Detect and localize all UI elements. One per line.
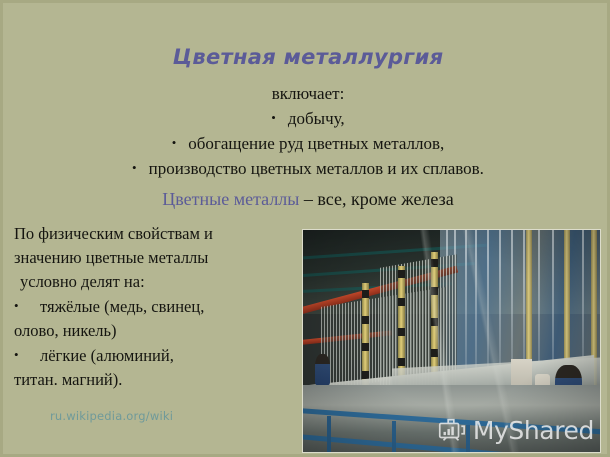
bullet-glyph-icon: •: [14, 343, 40, 367]
definition-term: Цветные металлы: [162, 189, 299, 209]
watermark-text: MyShared: [473, 418, 594, 443]
bullet-glyph-icon: •: [14, 294, 40, 318]
projector-chart-icon: [436, 415, 466, 445]
bullet-label-1: добычу,: [288, 109, 345, 128]
left-bullet-1-text: тяжёлые (медь, свинец,: [40, 297, 204, 316]
left-text-block: По физическим свойствам и значению цветн…: [14, 222, 299, 392]
source-link[interactable]: ru.wikipedia.org/wiki: [50, 409, 173, 423]
left-bullet-1-cont: олово, никель): [14, 319, 299, 343]
left-bullet-2: •лёгкие (алюминий,: [14, 343, 299, 368]
left-bullet-2-cont: титан. магний).: [14, 368, 299, 392]
bullet-glyph-icon: •: [271, 110, 276, 126]
bullet-label-2: обогащение руд цветных металлов,: [188, 134, 444, 153]
photo-canvas: MyShared: [303, 230, 600, 452]
definition-rest: – все, кроме железа: [299, 189, 453, 209]
bullet-line-1: •добычу,: [3, 109, 610, 129]
left-bullet-2-text: лёгкие (алюминий,: [40, 346, 174, 365]
intro-line: включает:: [3, 84, 610, 104]
watermark: MyShared: [436, 415, 594, 445]
slide-photo: MyShared: [302, 229, 601, 453]
bullet-label-3: производство цветных металлов и их сплав…: [149, 159, 484, 178]
bullet-glyph-icon: •: [132, 160, 137, 176]
paragraph-line-1: По физическим свойствам и: [14, 222, 299, 246]
paragraph-line-3: условно делят на:: [14, 270, 299, 294]
bullet-line-2: •обогащение руд цветных металлов,: [3, 134, 610, 154]
presentation-slide: Цветная металлургия включает: •добычу, •…: [0, 0, 610, 457]
left-bullet-1: •тяжёлые (медь, свинец,: [14, 294, 299, 319]
page-title: Цветная металлургия: [3, 45, 610, 69]
definition-line: Цветные металлы – все, кроме железа: [3, 189, 610, 210]
bullet-line-3: •производство цветных металлов и их спла…: [3, 159, 610, 179]
bullet-glyph-icon: •: [172, 135, 177, 151]
paragraph-line-2: значению цветные металлы: [14, 246, 299, 270]
